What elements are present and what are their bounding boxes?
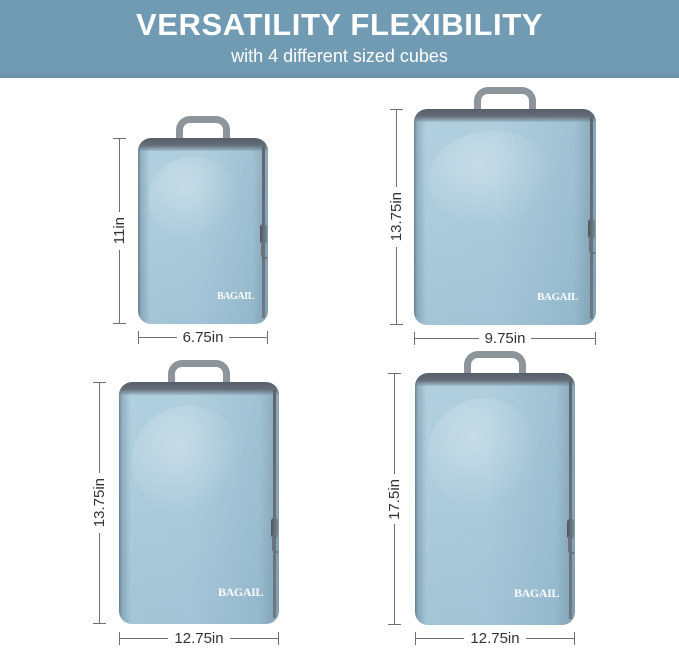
dimension-height-label: 17.5in [386, 474, 403, 525]
dimension-cap-bottom [93, 623, 106, 624]
fabric-sheen [148, 157, 239, 241]
dimension-cap-bottom [390, 324, 403, 325]
dimension-height-extra-large: 17.5in [383, 373, 405, 625]
dimension-height-medium: 13.75in [385, 109, 407, 325]
dimension-cap-right [278, 632, 279, 645]
dimension-line-right [531, 338, 595, 339]
packing-cube-medium[interactable]: BAGAIL [414, 87, 596, 325]
brand-logo: BAGAIL [217, 291, 254, 302]
dimension-line-upper [119, 139, 120, 212]
dimension-line-left [139, 337, 177, 338]
dimension-width-label: 12.75in [464, 630, 525, 647]
dimension-cap-bottom [388, 624, 401, 625]
header-banner: VERSATILITY FLEXIBILITY with 4 different… [0, 0, 679, 78]
dimension-height-label: 13.75in [388, 187, 405, 246]
dimension-line-right [229, 337, 267, 338]
dimension-line-upper [394, 374, 395, 474]
brand-logo: BAGAIL [514, 586, 559, 601]
dimension-line-lower [396, 247, 397, 324]
top-trim [414, 109, 596, 122]
dimension-cap-right [267, 331, 268, 344]
product-cell-small: 11in BAGAIL 6.75in [0, 78, 340, 350]
dimension-line-left [120, 638, 168, 639]
dimension-width-label: 9.75in [479, 330, 532, 347]
carry-handle-icon [474, 87, 536, 109]
dimension-cap-right [595, 332, 596, 345]
zipper-pull-icon[interactable] [271, 518, 278, 538]
dimension-line-right [230, 638, 278, 639]
packing-cube-small[interactable]: BAGAIL [138, 116, 268, 324]
top-trim [138, 138, 268, 151]
dimension-line-left [416, 638, 464, 639]
carry-handle-icon [464, 351, 526, 373]
dimension-height-label: 11in [111, 212, 128, 249]
dimension-line-right [526, 638, 574, 639]
page-title: VERSATILITY FLEXIBILITY [136, 7, 543, 43]
dimension-height-large: 13.75in [88, 382, 110, 624]
carry-handle-icon [168, 360, 230, 382]
dimension-height-label: 13.75in [91, 473, 108, 532]
dimension-line-lower [394, 524, 395, 624]
dimension-cap-bottom [113, 323, 126, 324]
dimension-line-lower [99, 533, 100, 623]
carry-handle-icon [176, 116, 230, 138]
product-grid: 11in BAGAIL 6.75in 13.75in [0, 78, 679, 665]
fabric-sheen [428, 398, 540, 511]
packing-cube-large[interactable]: BAGAIL [119, 360, 279, 624]
dimension-height-small: 11in [108, 138, 130, 324]
fabric-sheen [132, 406, 244, 515]
top-trim [119, 382, 279, 395]
dimension-width-label: 6.75in [177, 329, 230, 346]
packing-cube-extra-large[interactable]: BAGAIL [415, 351, 575, 625]
brand-logo: BAGAIL [537, 291, 578, 303]
dimension-width-medium: 9.75in [414, 327, 596, 349]
dimension-line-upper [99, 383, 100, 473]
zipper-track[interactable] [569, 381, 572, 619]
dimension-line-lower [119, 250, 120, 323]
zipper-pull-icon[interactable] [567, 519, 574, 539]
dimension-width-label: 12.75in [168, 630, 229, 647]
dimension-cap-right [574, 632, 575, 645]
zipper-track[interactable] [590, 117, 593, 319]
zipper-track[interactable] [273, 390, 276, 618]
dimension-width-extra-large: 12.75in [415, 627, 575, 649]
zipper-pull-icon[interactable] [588, 219, 595, 239]
zipper-pull-icon[interactable] [260, 224, 267, 244]
dimension-width-small: 6.75in [138, 326, 268, 348]
product-cell-large: 13.75in BAGAIL 12.75in [0, 350, 340, 665]
dimension-line-left [415, 338, 479, 339]
fabric-sheen [429, 131, 556, 228]
product-cell-medium: 13.75in BAGAIL 9.75in [340, 78, 679, 350]
page-subtitle: with 4 different sized cubes [231, 45, 448, 67]
dimension-line-upper [396, 110, 397, 187]
product-cell-extra-large: 17.5in BAGAIL 12.75in [340, 350, 679, 665]
top-trim [415, 373, 575, 386]
dimension-width-large: 12.75in [119, 627, 279, 649]
brand-logo: BAGAIL [218, 585, 263, 600]
